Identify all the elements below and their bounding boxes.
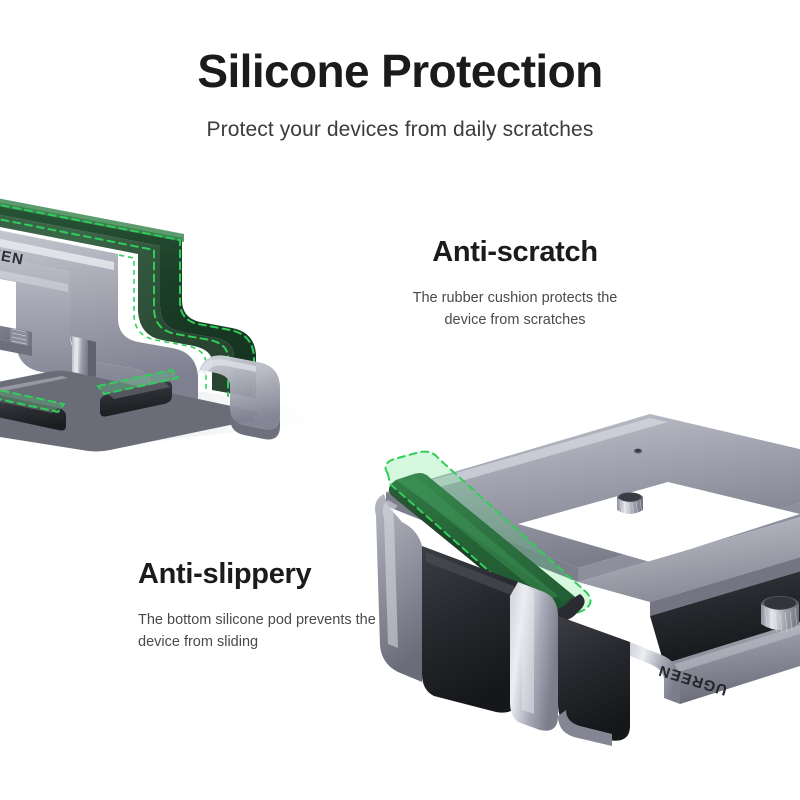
marketing-canvas: Silicone Protection Protect your devices… — [0, 0, 800, 800]
feature-anti-slippery: Anti-slippery The bottom silicone pod pr… — [138, 558, 378, 654]
feature-description: The rubber cushion protects the device f… — [390, 287, 640, 332]
feature-title: Anti-scratch — [390, 236, 640, 269]
feature-anti-scratch: Anti-scratch The rubber cushion protects… — [390, 236, 640, 332]
feature-description: The bottom silicone pod prevents the dev… — [138, 609, 378, 654]
page-title: Silicone Protection — [0, 44, 800, 98]
product-image-stand-underside: UGREEN — [368, 396, 800, 746]
feature-title: Anti-slippery — [138, 558, 378, 591]
page-subtitle: Protect your devices from daily scratche… — [0, 118, 800, 142]
